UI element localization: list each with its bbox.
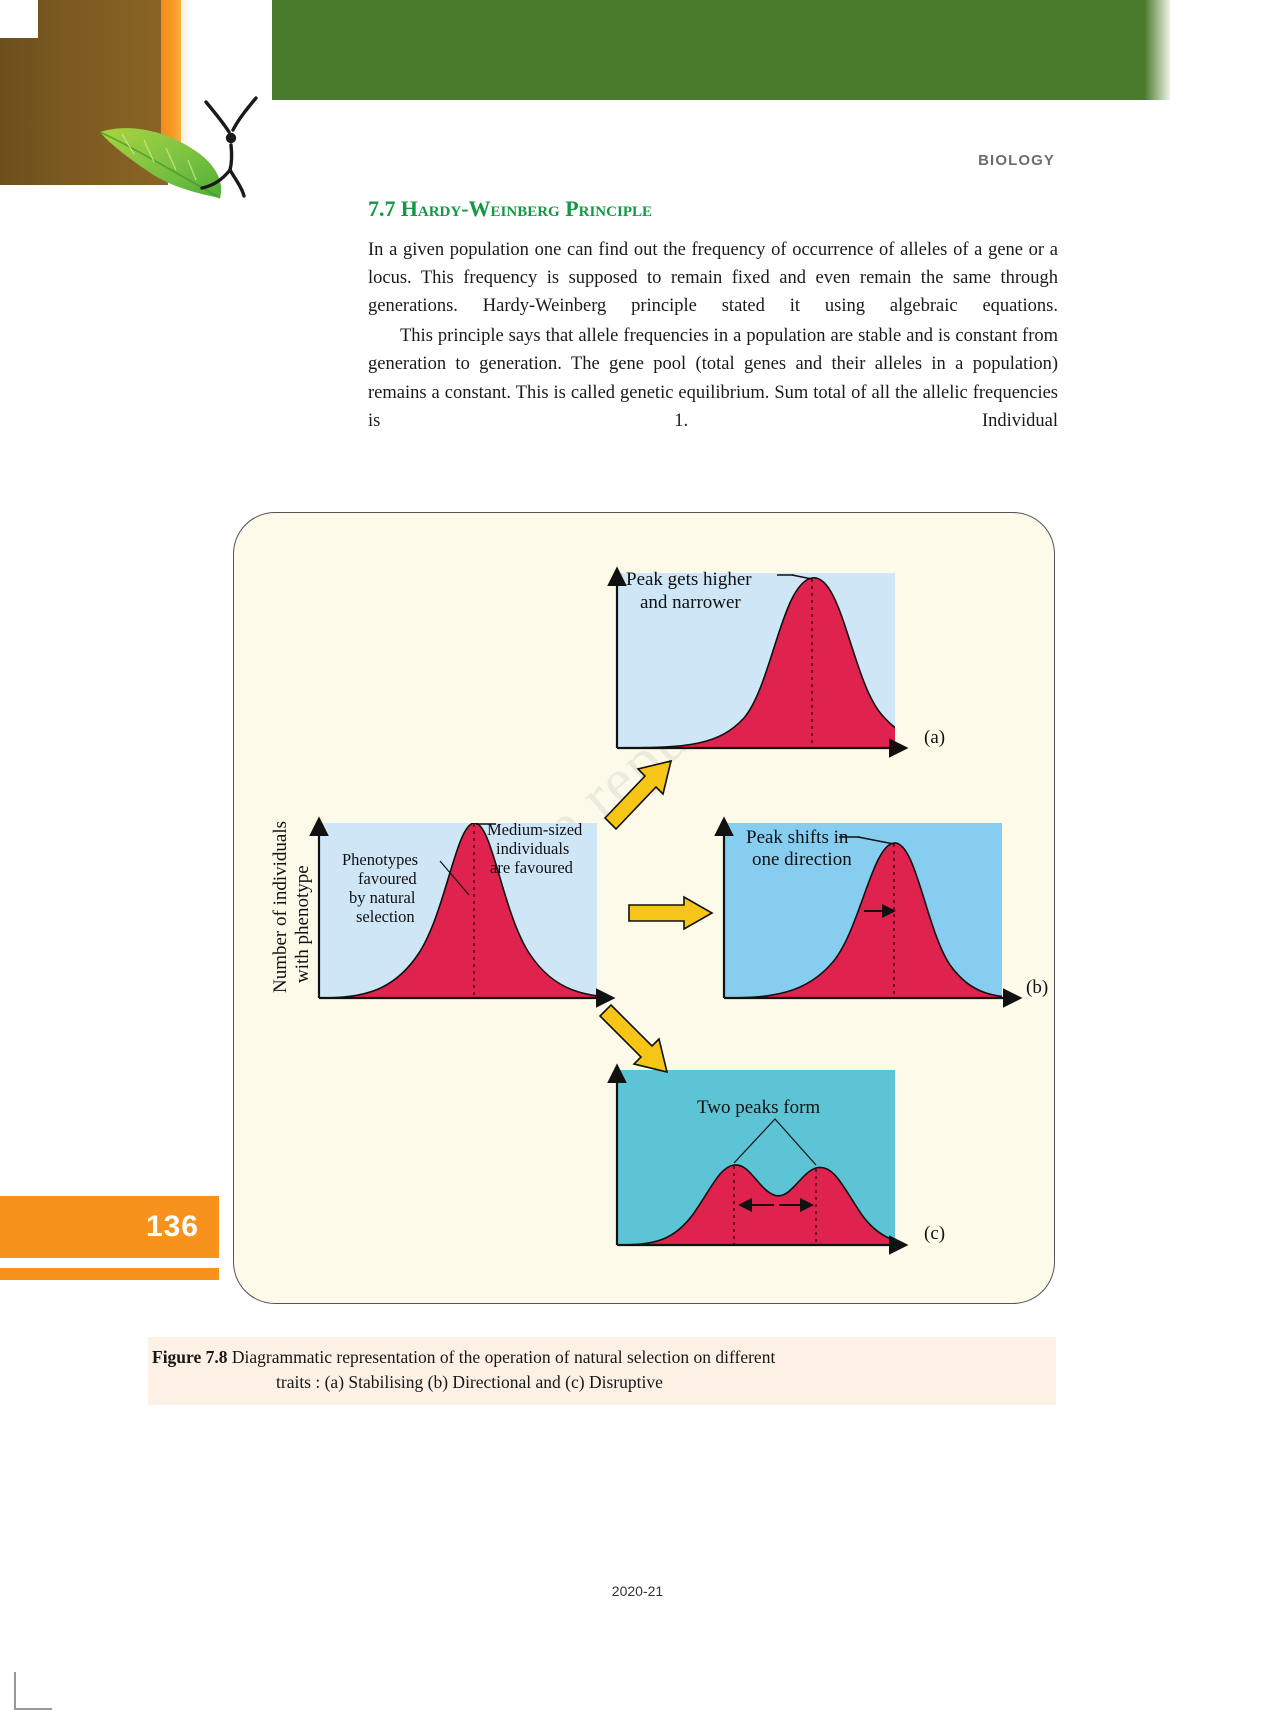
figure-graphic: not to be republished Peak gets higher a… (234, 513, 1054, 1303)
header-green-block (272, 0, 1170, 100)
arrow-to-disruptive (600, 1005, 667, 1072)
figure-caption: Figure 7.8 Diagrammatic representation o… (148, 1337, 1056, 1405)
footer-corner-mark (14, 1672, 52, 1710)
peak-shifts-label-line1: Peak shifts in (746, 827, 849, 848)
header-corner-notch (0, 0, 38, 38)
phenotypes-favoured-line4: selection (356, 907, 415, 926)
medium-sized-label-line1: Medium-sized (487, 820, 583, 839)
header-corner-rule-horizontal (0, 36, 38, 38)
figure-caption-label: Figure 7.8 (152, 1347, 228, 1367)
section-number: 7.7 (368, 196, 396, 221)
medium-sized-label-line3: are favoured (490, 858, 574, 877)
medium-sized-label-line2: individuals (496, 839, 569, 858)
header-green-fade (1106, 0, 1170, 100)
page-number-underline (0, 1268, 219, 1280)
peak-shifts-label-line2: one direction (752, 849, 852, 870)
running-head: BIOLOGY (978, 152, 1055, 169)
y-axis-label-line2: with phenotype (292, 865, 313, 983)
paragraph-2: This principle says that allele frequenc… (368, 322, 1058, 434)
peak-higher-label-line2: and narrower (640, 592, 741, 613)
two-peaks-label: Two peaks form (697, 1097, 820, 1118)
figure-panel: not to be republished Peak gets higher a… (233, 512, 1055, 1304)
paragraph-1: In a given population one can find out t… (368, 236, 1058, 320)
y-axis-label-line1: Number of individuals (270, 821, 291, 993)
footer-year: 2020-21 (0, 1583, 1275, 1599)
section-heading: 7.7 Hardy-Weinberg Principle (368, 196, 1058, 222)
section-title-text: Hardy-Weinberg Principle (401, 196, 652, 221)
panel-letter-b: (b) (1026, 977, 1048, 998)
header-corner-rule-vertical (36, 0, 38, 37)
flow-arrows (600, 761, 712, 1072)
content-column: 7.7 Hardy-Weinberg Principle In a given … (368, 196, 1058, 435)
phenotypes-favoured-line1: Phenotypes (342, 850, 418, 869)
panel-stabilising: Peak gets higher and narrower (a) (617, 569, 994, 748)
peak-higher-label-line1: Peak gets higher (626, 569, 752, 590)
header-white-right (1170, 0, 1275, 100)
phenotypes-favoured-line3: by natural (349, 888, 416, 907)
human-figure-logo (196, 88, 266, 198)
arrow-to-directional (629, 897, 712, 929)
panel-letter-c: (c) (924, 1223, 945, 1244)
panel-original: Number of individuals with phenotype Med… (270, 820, 634, 998)
panel-directional: Peak shifts in one direction (b) (724, 823, 1048, 998)
panel-letter-a: (a) (924, 727, 945, 748)
page-number: 136 (0, 1196, 199, 1258)
figure-caption-line2: traits : (a) Stabilising (b) Directional… (276, 1370, 1052, 1395)
figure-caption-line1: Diagrammatic representation of the opera… (232, 1347, 775, 1367)
panel-disruptive: Two peaks form (c) (617, 1070, 945, 1245)
phenotypes-favoured-line2: favoured (358, 869, 417, 888)
